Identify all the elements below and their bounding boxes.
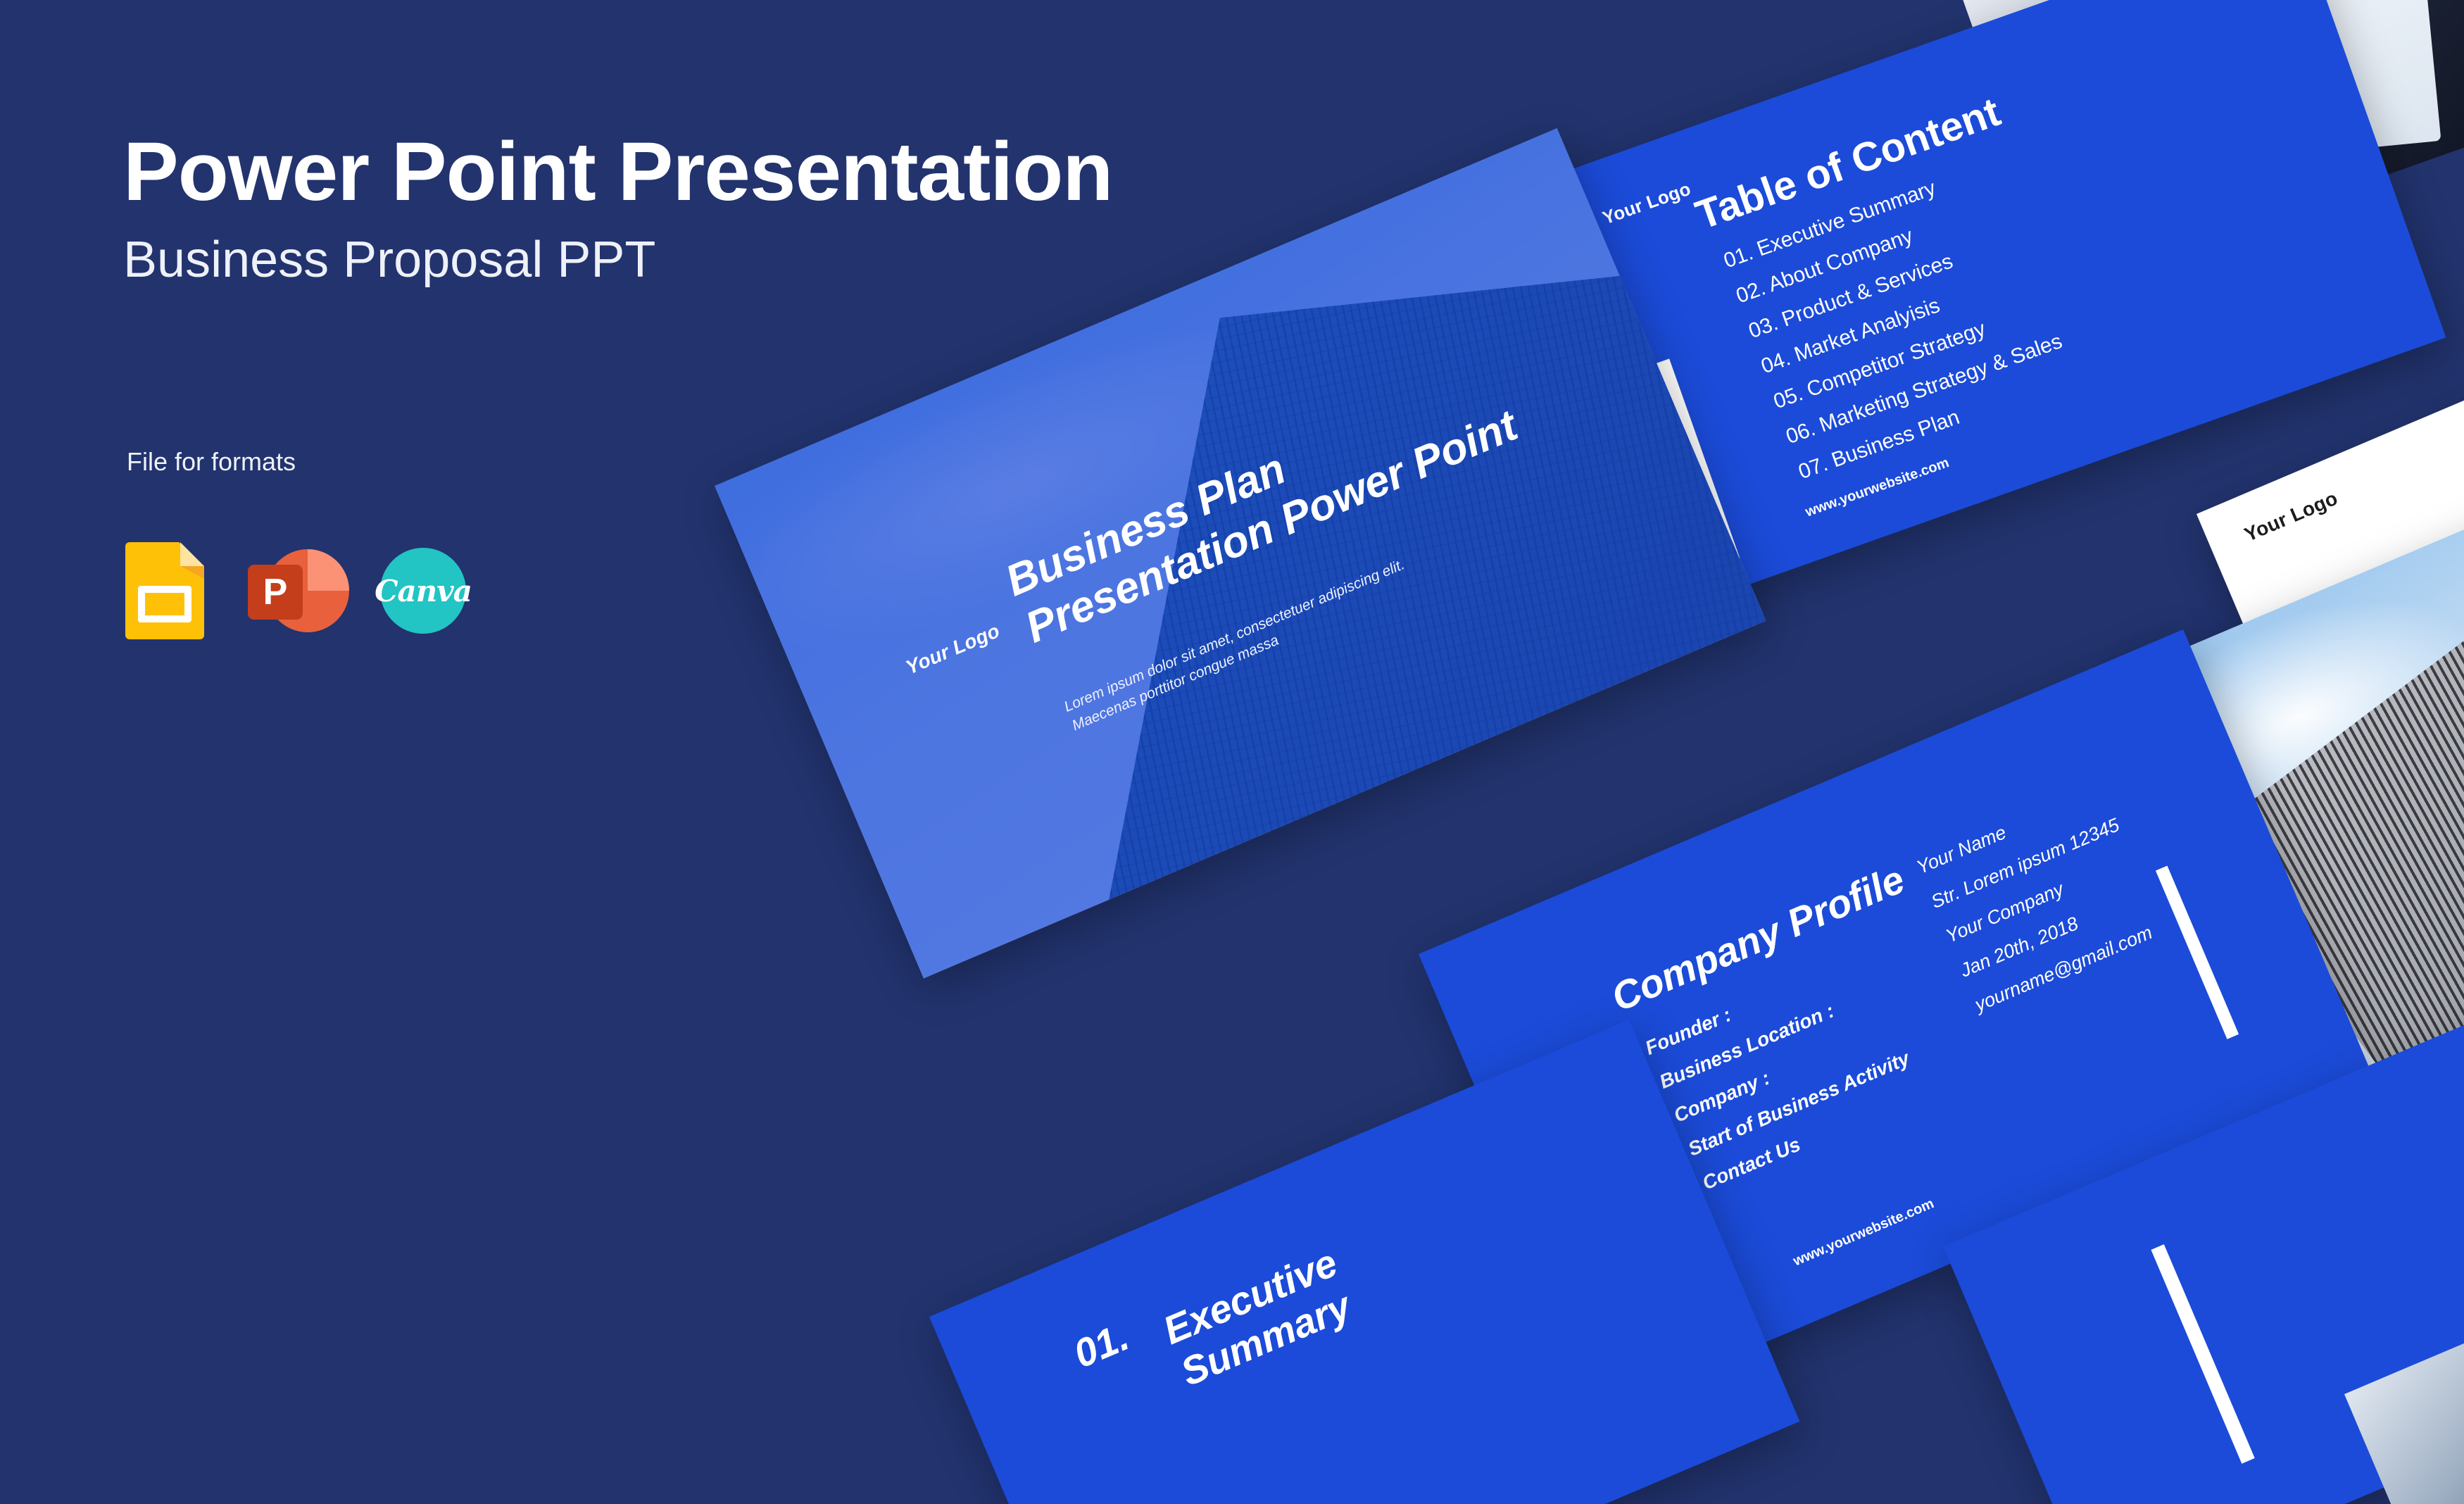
google-slides-icon[interactable] bbox=[125, 542, 204, 639]
canva-icon[interactable]: Canva bbox=[380, 548, 466, 634]
ppt-letter: P bbox=[263, 574, 288, 610]
slides-fold-shape bbox=[180, 542, 204, 566]
es-number: 01. bbox=[1067, 1313, 1136, 1377]
cp-value-list: Your Name Str. Lorem ipsum 12345 Your Co… bbox=[1913, 779, 2173, 1030]
toc-logo: Your Logo bbox=[1599, 178, 1694, 230]
cp-website: www.yourwebsite.com bbox=[1791, 1196, 1937, 1270]
canva-wordmark: Canva bbox=[375, 574, 472, 608]
page-title: Power Point Presentation bbox=[123, 130, 1112, 213]
page-subtitle: Business Proposal PPT bbox=[123, 234, 1112, 285]
format-icons-row: P Canva bbox=[125, 542, 466, 639]
powerpoint-icon[interactable]: P bbox=[248, 546, 337, 635]
ppt-quadrant-shape bbox=[308, 549, 349, 591]
hero-block: Power Point Presentation Business Propos… bbox=[123, 130, 1112, 285]
ppt-square-shape: P bbox=[248, 565, 303, 620]
slides-frame-shape bbox=[138, 586, 191, 622]
br-accent-bar bbox=[2151, 1244, 2254, 1464]
poster-canvas: Power Point Presentation Business Propos… bbox=[0, 0, 2464, 1504]
es-title: Executive Summary bbox=[1157, 1240, 1362, 1396]
formats-label: File for formats bbox=[127, 447, 296, 477]
logo-card-text: Your Logo bbox=[2241, 487, 2341, 546]
